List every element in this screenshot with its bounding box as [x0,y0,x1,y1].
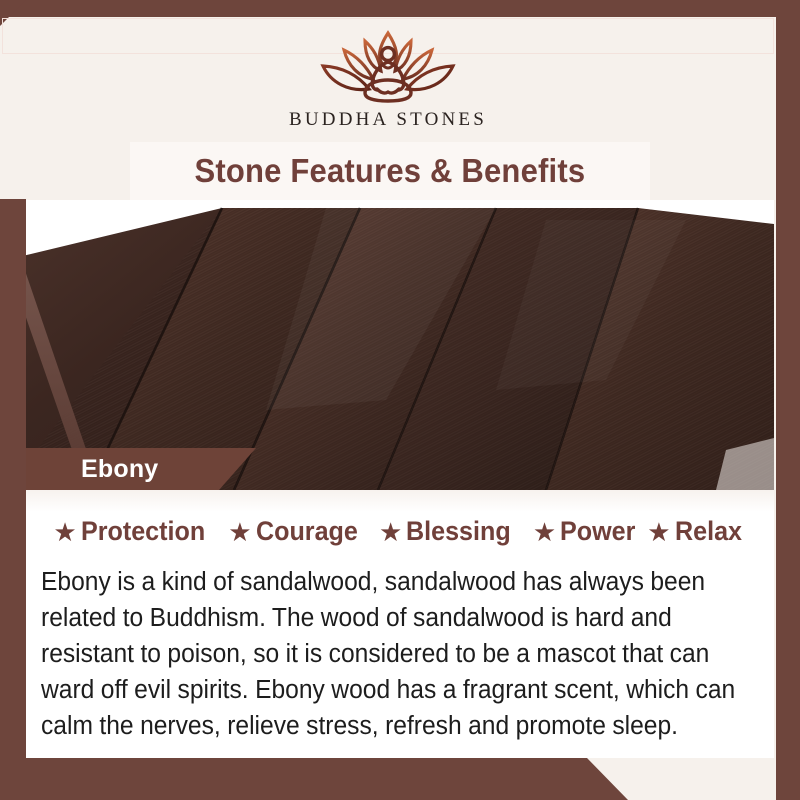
benefit-item-courage: ★ Courage [228,516,365,547]
star-icon: ★ [533,519,556,545]
frame-right-bar [776,0,800,800]
star-icon: ★ [228,519,251,545]
benefit-item-protection: ★ Protection [53,516,214,547]
brand-name: BUDDHA STONES [289,109,487,131]
star-icon: ★ [379,519,402,545]
brand-header: BUDDHA STONES [0,17,776,143]
benefit-item-power: ★ Power [533,516,641,547]
page-title: Stone Features & Benefits [195,152,586,190]
product-label-banner: Ebony [26,448,256,490]
benefit-label: Protection [81,516,205,547]
frame-bottom-bar [0,758,800,800]
lotus-meditation-icon [303,23,473,107]
panel-top-fade [26,490,774,512]
star-icon: ★ [53,519,76,545]
benefit-item-blessing: ★ Blessing [379,516,519,547]
content-panel: ★ Protection ★ Courage ★ Blessing ★ Powe… [26,490,774,758]
benefit-label: Courage [256,516,358,547]
benefits-list: ★ Protection ★ Courage ★ Blessing ★ Powe… [26,516,774,547]
benefit-label: Power [560,516,635,547]
benefit-label: Relax [675,516,742,547]
frame-top-bar [0,0,800,17]
product-label: Ebony [81,455,158,484]
ebony-wood-planks-photo [26,200,774,490]
frame-left-bar [0,199,26,800]
star-icon: ★ [647,519,670,545]
benefit-label: Blessing [406,516,511,547]
benefit-item-relax: ★ Relax [647,516,746,547]
poster-root: BUDDHA STONES Stone Features & Benefits [0,0,800,800]
title-band: Stone Features & Benefits [130,142,650,200]
description-text: Ebony is a kind of sandalwood, sandalwoo… [41,564,736,744]
